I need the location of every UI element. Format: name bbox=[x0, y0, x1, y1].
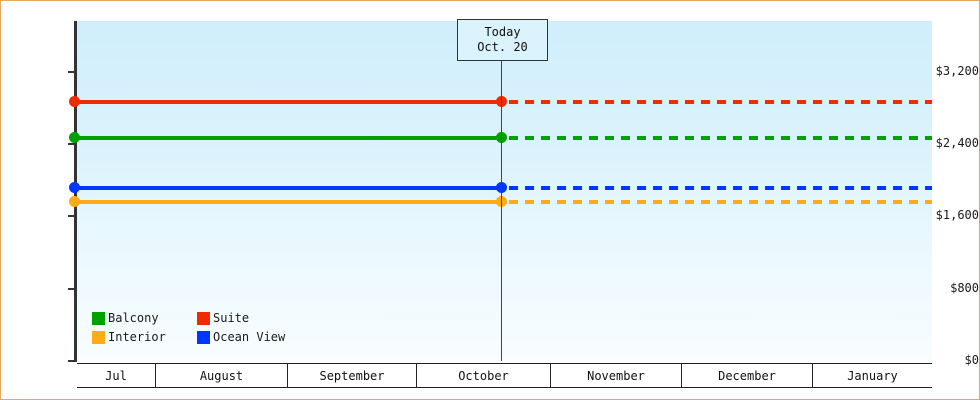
y-tick-mark-1600 bbox=[68, 215, 75, 217]
y-tick-label-3200: $3,200 bbox=[913, 65, 979, 77]
y-tick-label-800: $800 bbox=[913, 282, 979, 294]
legend-item-interior[interactable]: Interior bbox=[92, 331, 197, 344]
series-line-interior-forecast bbox=[509, 200, 932, 204]
x-axis-month-december[interactable]: December bbox=[682, 364, 813, 387]
x-axis-month-november[interactable]: November bbox=[551, 364, 682, 387]
series-marker-balcony-start bbox=[69, 132, 80, 143]
legend-item-balcony[interactable]: Balcony bbox=[92, 312, 197, 325]
series-line-suite-forecast bbox=[509, 100, 932, 104]
legend-label-interior: Interior bbox=[108, 331, 166, 344]
legend-item-ocean-view[interactable]: Ocean View bbox=[197, 331, 285, 344]
series-marker-interior-start bbox=[69, 196, 80, 207]
legend-item-suite[interactable]: Suite bbox=[197, 312, 285, 325]
y-tick-mark-2400 bbox=[68, 143, 75, 145]
today-annotation-box: Today Oct. 20 bbox=[457, 19, 548, 61]
series-line-balcony-actual bbox=[77, 136, 501, 140]
series-marker-suite-start bbox=[69, 96, 80, 107]
today-vertical-line bbox=[501, 21, 502, 361]
legend-label-suite: Suite bbox=[213, 312, 249, 325]
series-line-ocean-view-actual bbox=[77, 186, 501, 190]
series-line-interior-actual bbox=[77, 200, 501, 204]
x-axis-month-band: Jul August September October November De… bbox=[77, 363, 932, 388]
x-axis-month-august[interactable]: August bbox=[156, 364, 288, 387]
y-tick-label-1600: $1,600 bbox=[913, 209, 979, 221]
today-label-line2: Oct. 20 bbox=[477, 40, 528, 55]
x-axis-month-jul[interactable]: Jul bbox=[77, 364, 156, 387]
legend-label-ocean-view: Ocean View bbox=[213, 331, 285, 344]
series-marker-ocean-view-start bbox=[69, 182, 80, 193]
series-line-ocean-view-forecast bbox=[509, 186, 932, 190]
y-tick-mark-800 bbox=[68, 288, 75, 290]
legend-label-balcony: Balcony bbox=[108, 312, 159, 325]
x-axis-month-october[interactable]: October bbox=[417, 364, 551, 387]
chart-legend: Balcony Suite Interior Ocean View bbox=[92, 312, 285, 344]
legend-swatch-icon-ocean-view bbox=[197, 331, 210, 344]
legend-swatch-icon-interior bbox=[92, 331, 105, 344]
x-axis-month-september[interactable]: September bbox=[288, 364, 417, 387]
legend-swatch-icon-suite bbox=[197, 312, 210, 325]
y-tick-mark-0 bbox=[68, 360, 75, 362]
series-line-balcony-forecast bbox=[509, 136, 932, 140]
series-line-suite-actual bbox=[77, 100, 501, 104]
chart-frame: $3,200 $2,400 $1,600 $800 $0 Today Oct. … bbox=[0, 0, 980, 400]
x-axis-month-january[interactable]: January bbox=[813, 364, 932, 387]
legend-swatch-icon-balcony bbox=[92, 312, 105, 325]
today-label-line1: Today bbox=[484, 25, 520, 40]
y-tick-mark-3200 bbox=[68, 71, 75, 73]
